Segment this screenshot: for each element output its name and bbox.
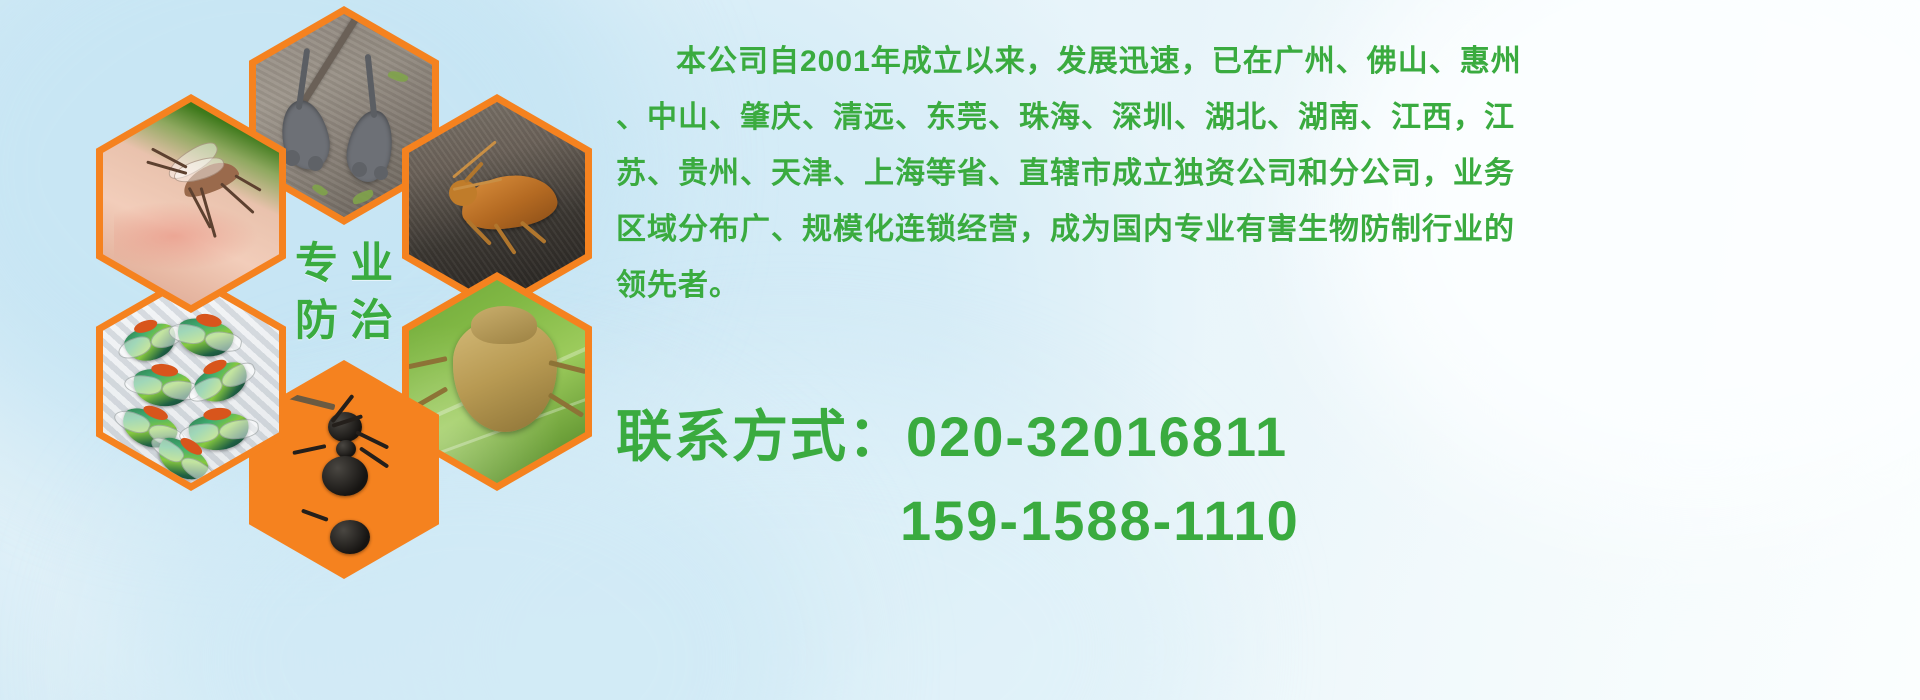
honeycomb-collage: 专业 防治 bbox=[82, 6, 602, 586]
badge-line-2: 防治 bbox=[283, 300, 405, 343]
contact-phone-secondary[interactable]: 159-1588-1110 bbox=[616, 479, 1876, 563]
contact-block: 联系方式：020-32016811 159-1588-1110 bbox=[616, 395, 1876, 563]
intro-line: 本公司自2001年成立以来，发展迅速，已在广州、佛山、惠州 bbox=[616, 34, 1876, 90]
contact-label: 联系方式： bbox=[616, 405, 906, 468]
badge-text: 专业 防治 bbox=[249, 183, 439, 402]
intro-line: 区域分布广、规模化连锁经营，成为国内专业有害生物防制行业的 bbox=[616, 202, 1876, 258]
badge-line-1: 专业 bbox=[283, 243, 405, 286]
contact-phone-primary[interactable]: 020-32016811 bbox=[906, 405, 1288, 468]
intro-paragraph: 本公司自2001年成立以来，发展迅速，已在广州、佛山、惠州 、中山、肇庆、清远、… bbox=[616, 34, 1876, 314]
contact-primary-line: 联系方式：020-32016811 bbox=[616, 395, 1876, 479]
intro-line: 、中山、肇庆、清远、东莞、珠海、深圳、湖北、湖南、江西，江 bbox=[616, 90, 1876, 146]
banner-root: 专业 防治 本公司自2001年成立以来，发展迅速，已在广州、佛山、惠州 、中山、… bbox=[0, 0, 1920, 700]
intro-line: 领先者。 bbox=[616, 258, 1876, 314]
intro-block: 本公司自2001年成立以来，发展迅速，已在广州、佛山、惠州 、中山、肇庆、清远、… bbox=[616, 34, 1876, 314]
intro-line: 苏、贵州、天津、上海等省、直辖市成立独资公司和分公司，业务 bbox=[616, 146, 1876, 202]
